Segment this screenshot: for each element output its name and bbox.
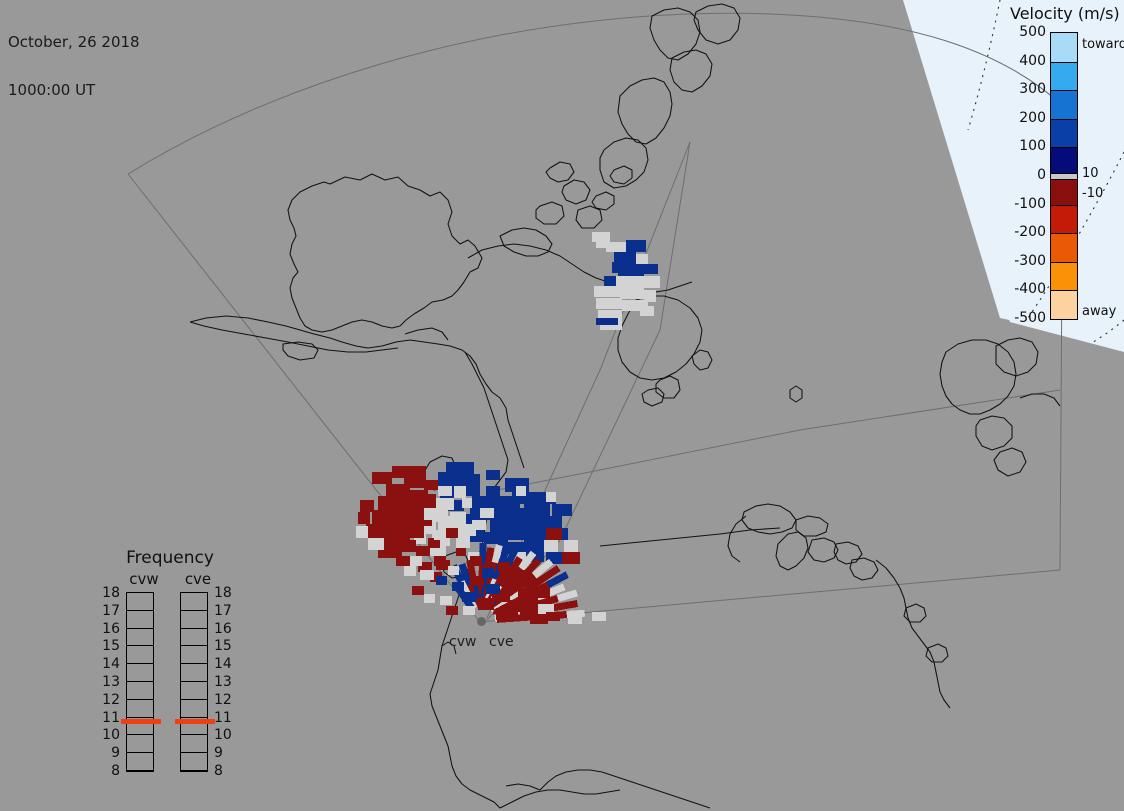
frequency-segment <box>127 753 153 771</box>
frequency-segment <box>127 700 153 718</box>
frequency-segment <box>127 646 153 664</box>
frequency-tick-cvw-8: 8 <box>94 764 120 778</box>
frequency-segment <box>127 611 153 629</box>
frequency-segment <box>127 593 153 611</box>
frequency-tick-cve-13: 13 <box>214 675 240 689</box>
velocity-tick-500: 500 <box>1019 25 1046 39</box>
velocity-tick-200: 200 <box>1019 111 1046 125</box>
velocity-legend: Velocity (m/s) 5004003002001000-100-200-… <box>1002 2 1124 332</box>
frequency-tick-cve-18: 18 <box>214 586 240 600</box>
velocity-tick--300: -300 <box>1014 254 1046 268</box>
frequency-segment <box>181 700 207 718</box>
frequency-tick-cve-10: 10 <box>214 728 240 742</box>
frequency-segment <box>181 753 207 771</box>
frequency-tick-cve-9: 9 <box>214 746 240 760</box>
frequency-tick-cve-17: 17 <box>214 604 240 618</box>
frequency-segment <box>127 735 153 753</box>
frequency-segment <box>127 664 153 682</box>
frequency-segment <box>181 664 207 682</box>
velocity-inner-low-label: -10 <box>1082 187 1103 200</box>
frequency-segment <box>181 682 207 700</box>
velocity-band-300-400 <box>1051 62 1077 91</box>
frequency-legend: Frequency cvw 18171615141312111098 cve 1… <box>88 548 252 788</box>
velocity-band--400--300 <box>1051 262 1077 291</box>
frequency-tick-cve-15: 15 <box>214 639 240 653</box>
velocity-band-200-300 <box>1051 90 1077 119</box>
velocity-inner-high-label: 10 <box>1082 167 1099 180</box>
scatter-west-lobe-away <box>358 466 450 582</box>
station-label-cvw: cvw <box>449 634 476 650</box>
frequency-segment <box>181 593 207 611</box>
frequency-tick-cve-8: 8 <box>214 764 240 778</box>
velocity-band-10-100 <box>1051 147 1077 173</box>
velocity-tick-300: 300 <box>1019 82 1046 96</box>
velocity-band--200--100 <box>1051 205 1077 234</box>
frequency-bar-cvw <box>126 592 154 772</box>
velocity-tick-400: 400 <box>1019 54 1046 68</box>
frequency-tick-cve-14: 14 <box>214 657 240 671</box>
frequency-tick-cvw-17: 17 <box>94 604 120 618</box>
velocity-tick-100: 100 <box>1019 139 1046 153</box>
timestamp-time: 1000:00 UT <box>8 82 140 98</box>
frequency-tick-cve-11: 11 <box>214 711 240 725</box>
velocity-tick--100: -100 <box>1014 197 1046 211</box>
frequency-tick-cvw-18: 18 <box>94 586 120 600</box>
frequency-marker-cvw <box>121 719 161 724</box>
frequency-tick-cvw-11: 11 <box>94 711 120 725</box>
frequency-tick-cvw-9: 9 <box>94 746 120 760</box>
frequency-legend-title: Frequency <box>88 548 252 568</box>
frequency-radar-name-cvw: cvw <box>124 570 164 588</box>
frequency-tick-cvw-15: 15 <box>94 639 120 653</box>
frequency-tick-cvw-12: 12 <box>94 693 120 707</box>
frequency-tick-cve-12: 12 <box>214 693 240 707</box>
velocity-legend-title: Velocity (m/s) <box>1010 4 1120 23</box>
timestamp-date: October, 26 2018 <box>8 34 140 50</box>
velocity-map-screenshot: cvw cve October, 26 2018 1000:00 UT Velo… <box>0 0 1124 811</box>
frequency-tick-cvw-13: 13 <box>94 675 120 689</box>
frequency-segment <box>181 611 207 629</box>
frequency-radar-name-cve: cve <box>178 570 218 588</box>
frequency-tick-cvw-10: 10 <box>94 728 120 742</box>
velocity-band--100--10 <box>1051 179 1077 205</box>
velocity-toward-label: toward <box>1082 38 1124 51</box>
velocity-tick--400: -400 <box>1014 282 1046 296</box>
velocity-tick-labels: 5004003002001000-100-200-300-400-500 <box>994 24 1046 324</box>
frequency-segment <box>181 629 207 647</box>
velocity-band--300--200 <box>1051 233 1077 262</box>
velocity-band--500--400 <box>1051 290 1077 319</box>
frequency-tick-cvw-14: 14 <box>94 657 120 671</box>
velocity-tick--200: -200 <box>1014 225 1046 239</box>
frequency-marker-cve <box>175 719 215 724</box>
timestamp: October, 26 2018 1000:00 UT <box>8 2 140 130</box>
velocity-tick--500: -500 <box>1014 311 1046 325</box>
velocity-tick-0: 0 <box>1037 168 1046 182</box>
frequency-segment <box>181 646 207 664</box>
station-label-cve: cve <box>489 634 514 650</box>
frequency-segment <box>127 629 153 647</box>
velocity-away-label: away <box>1082 305 1116 318</box>
station-marker-dot <box>477 617 486 626</box>
velocity-colorbar <box>1050 32 1078 320</box>
frequency-bar-cve <box>180 592 208 772</box>
frequency-tick-cvw-16: 16 <box>94 622 120 636</box>
velocity-band-100-200 <box>1051 119 1077 148</box>
frequency-segment <box>181 735 207 753</box>
frequency-tick-cve-16: 16 <box>214 622 240 636</box>
velocity-band-400-500 <box>1051 33 1077 62</box>
frequency-segment <box>127 682 153 700</box>
